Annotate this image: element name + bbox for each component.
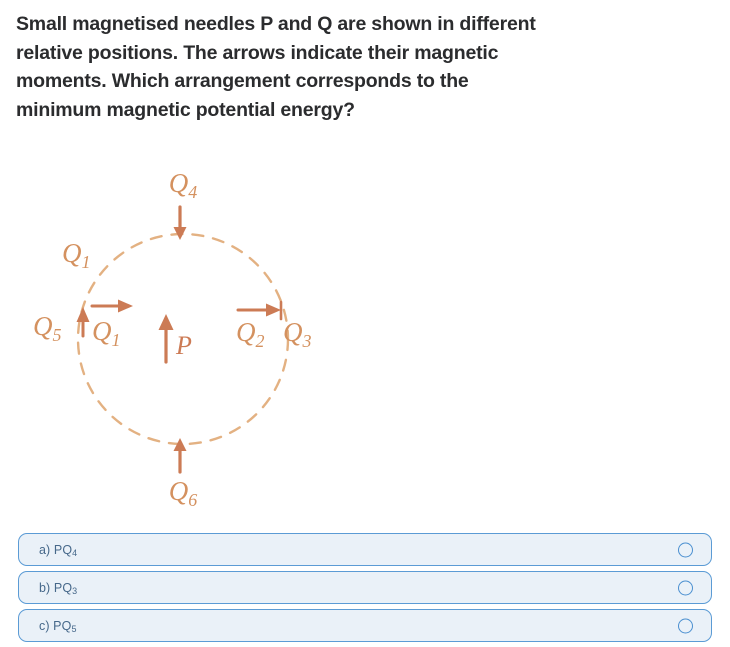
label-q6: Q6	[169, 476, 198, 510]
label-q1-outer: Q1	[62, 238, 91, 272]
diagram-svg: Q4 Q6 P Q1 Q5 Q1	[0, 150, 380, 520]
option-c-label: c) PQ5	[39, 619, 77, 633]
label-q3: Q3	[283, 317, 312, 351]
question-heading: Small magnetised needles P and Q are sho…	[16, 10, 706, 124]
option-a-radio[interactable]	[678, 542, 693, 557]
arrow-p-up	[159, 314, 174, 362]
option-row-c[interactable]: c) PQ5	[18, 609, 712, 642]
label-q4: Q4	[169, 168, 198, 202]
option-row-a[interactable]: a) PQ4	[18, 533, 712, 566]
answer-options-list: a) PQ4 b) PQ3 c) PQ5	[18, 533, 712, 647]
option-a-label: a) PQ4	[39, 543, 77, 557]
option-b-radio[interactable]	[678, 580, 693, 595]
magnetic-needles-diagram: Q4 Q6 P Q1 Q5 Q1	[0, 150, 380, 520]
option-b-label: b) PQ3	[39, 581, 77, 595]
label-q1-inner: Q1	[92, 316, 121, 350]
option-c-radio[interactable]	[678, 618, 693, 633]
label-p: P	[175, 331, 192, 360]
label-q2: Q2	[236, 317, 265, 351]
arrow-q1-right	[92, 300, 133, 313]
option-row-b[interactable]: b) PQ3	[18, 571, 712, 604]
label-q5: Q5	[33, 311, 62, 345]
